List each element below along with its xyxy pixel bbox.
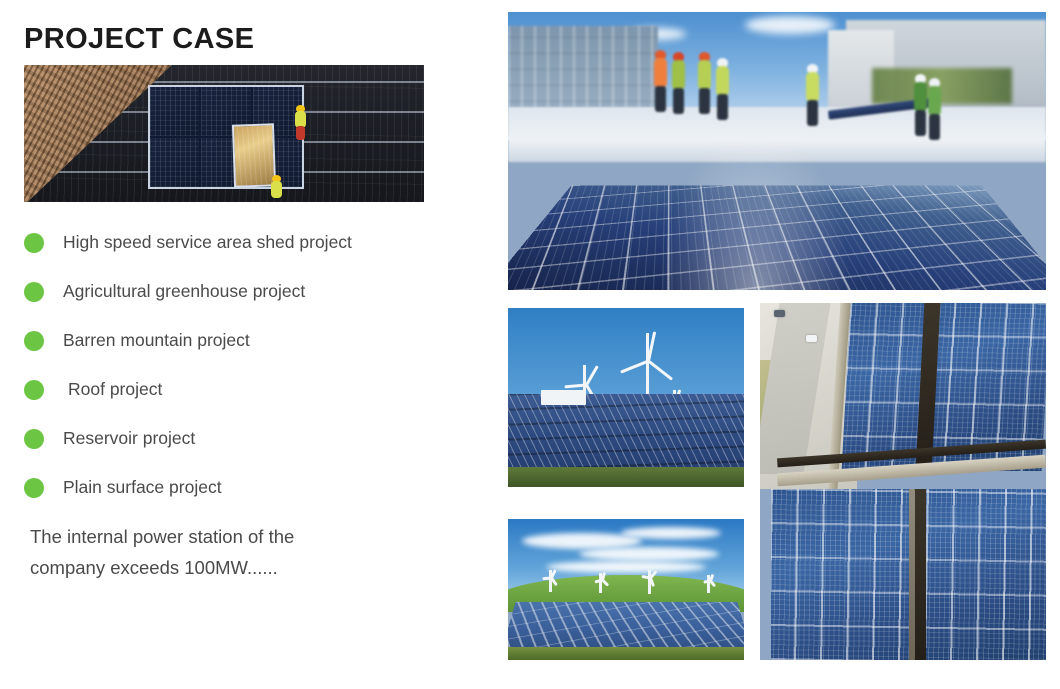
- background-greenery: [872, 68, 1012, 104]
- turbine-blade: [648, 360, 673, 381]
- bullet-dot-icon: [24, 380, 44, 400]
- worker-legs: [807, 100, 818, 126]
- list-item[interactable]: Reservoir project: [24, 414, 484, 463]
- capacity-note-line-2: company exceeds 100MW......: [30, 552, 450, 583]
- roof-beam: [909, 489, 915, 660]
- hi-vis-vest: [672, 60, 685, 90]
- panel-glare: [659, 123, 853, 290]
- grass-strip: [508, 467, 744, 487]
- site-structure: [541, 390, 586, 404]
- turbine-blade: [642, 575, 651, 580]
- project-type-list: High speed service area shed project Agr…: [24, 218, 484, 512]
- hi-vis-vest: [698, 60, 711, 90]
- worker-legs: [655, 86, 666, 112]
- grass-strip: [508, 647, 744, 660]
- list-item-label: Reservoir project: [63, 428, 195, 449]
- hi-vis-vest: [806, 72, 819, 102]
- capacity-note-line-1: The internal power station of the: [30, 521, 450, 552]
- list-item-label: Barren mountain project: [63, 330, 250, 351]
- left-content-column: PROJECT CASE: [0, 0, 495, 689]
- hi-vis-vest: [928, 86, 941, 116]
- car: [806, 335, 817, 342]
- panel-cell: [150, 138, 199, 187]
- wind-turbine: [593, 573, 609, 593]
- car: [774, 310, 785, 317]
- list-item-label: Plain surface project: [63, 477, 222, 498]
- list-item[interactable]: Roof project: [24, 365, 484, 414]
- bullet-dot-icon: [24, 282, 44, 302]
- cloud: [745, 16, 835, 34]
- list-item-label: Agricultural greenhouse project: [63, 281, 305, 302]
- roof-install-photo: [24, 65, 424, 202]
- panel-being-installed: [232, 123, 276, 187]
- page-title: PROJECT CASE: [24, 24, 254, 56]
- wind-turbine: [541, 570, 559, 592]
- worker-legs: [717, 94, 728, 120]
- wind-turbine: [640, 570, 658, 594]
- list-item-label: High speed service area shed project: [63, 232, 352, 253]
- list-item[interactable]: Agricultural greenhouse project: [24, 267, 484, 316]
- hills-farm-photo: [508, 519, 744, 660]
- list-item-label: Roof project: [68, 379, 162, 400]
- hi-vis-vest: [716, 66, 729, 96]
- hi-vis-vest: [654, 58, 667, 88]
- installed-panel-array: [148, 85, 304, 189]
- worker-legs: [296, 126, 305, 140]
- bullet-dot-icon: [24, 233, 44, 253]
- aerial-roof-photo: [760, 303, 1046, 660]
- wind-farm-photo: [508, 308, 744, 487]
- hi-vis-vest: [271, 181, 282, 198]
- rooftop-crew-photo: [508, 12, 1046, 290]
- worker-legs: [699, 88, 710, 114]
- turbine-blade: [585, 365, 599, 386]
- worker-legs: [673, 88, 684, 114]
- hi-vis-vest: [914, 82, 927, 112]
- bullet-dot-icon: [24, 429, 44, 449]
- capacity-note: The internal power station of the compan…: [30, 521, 450, 583]
- list-item[interactable]: High speed service area shed project: [24, 218, 484, 267]
- turbine-blade: [542, 576, 551, 580]
- wind-turbine: [702, 575, 716, 593]
- worker-legs: [929, 114, 940, 140]
- panel-cell: [150, 87, 199, 136]
- bullet-dot-icon: [24, 331, 44, 351]
- list-item[interactable]: Plain surface project: [24, 463, 484, 512]
- worker-legs: [915, 110, 926, 136]
- list-item[interactable]: Barren mountain project: [24, 316, 484, 365]
- bullet-dot-icon: [24, 478, 44, 498]
- project-case-slide: PROJECT CASE: [0, 0, 1060, 689]
